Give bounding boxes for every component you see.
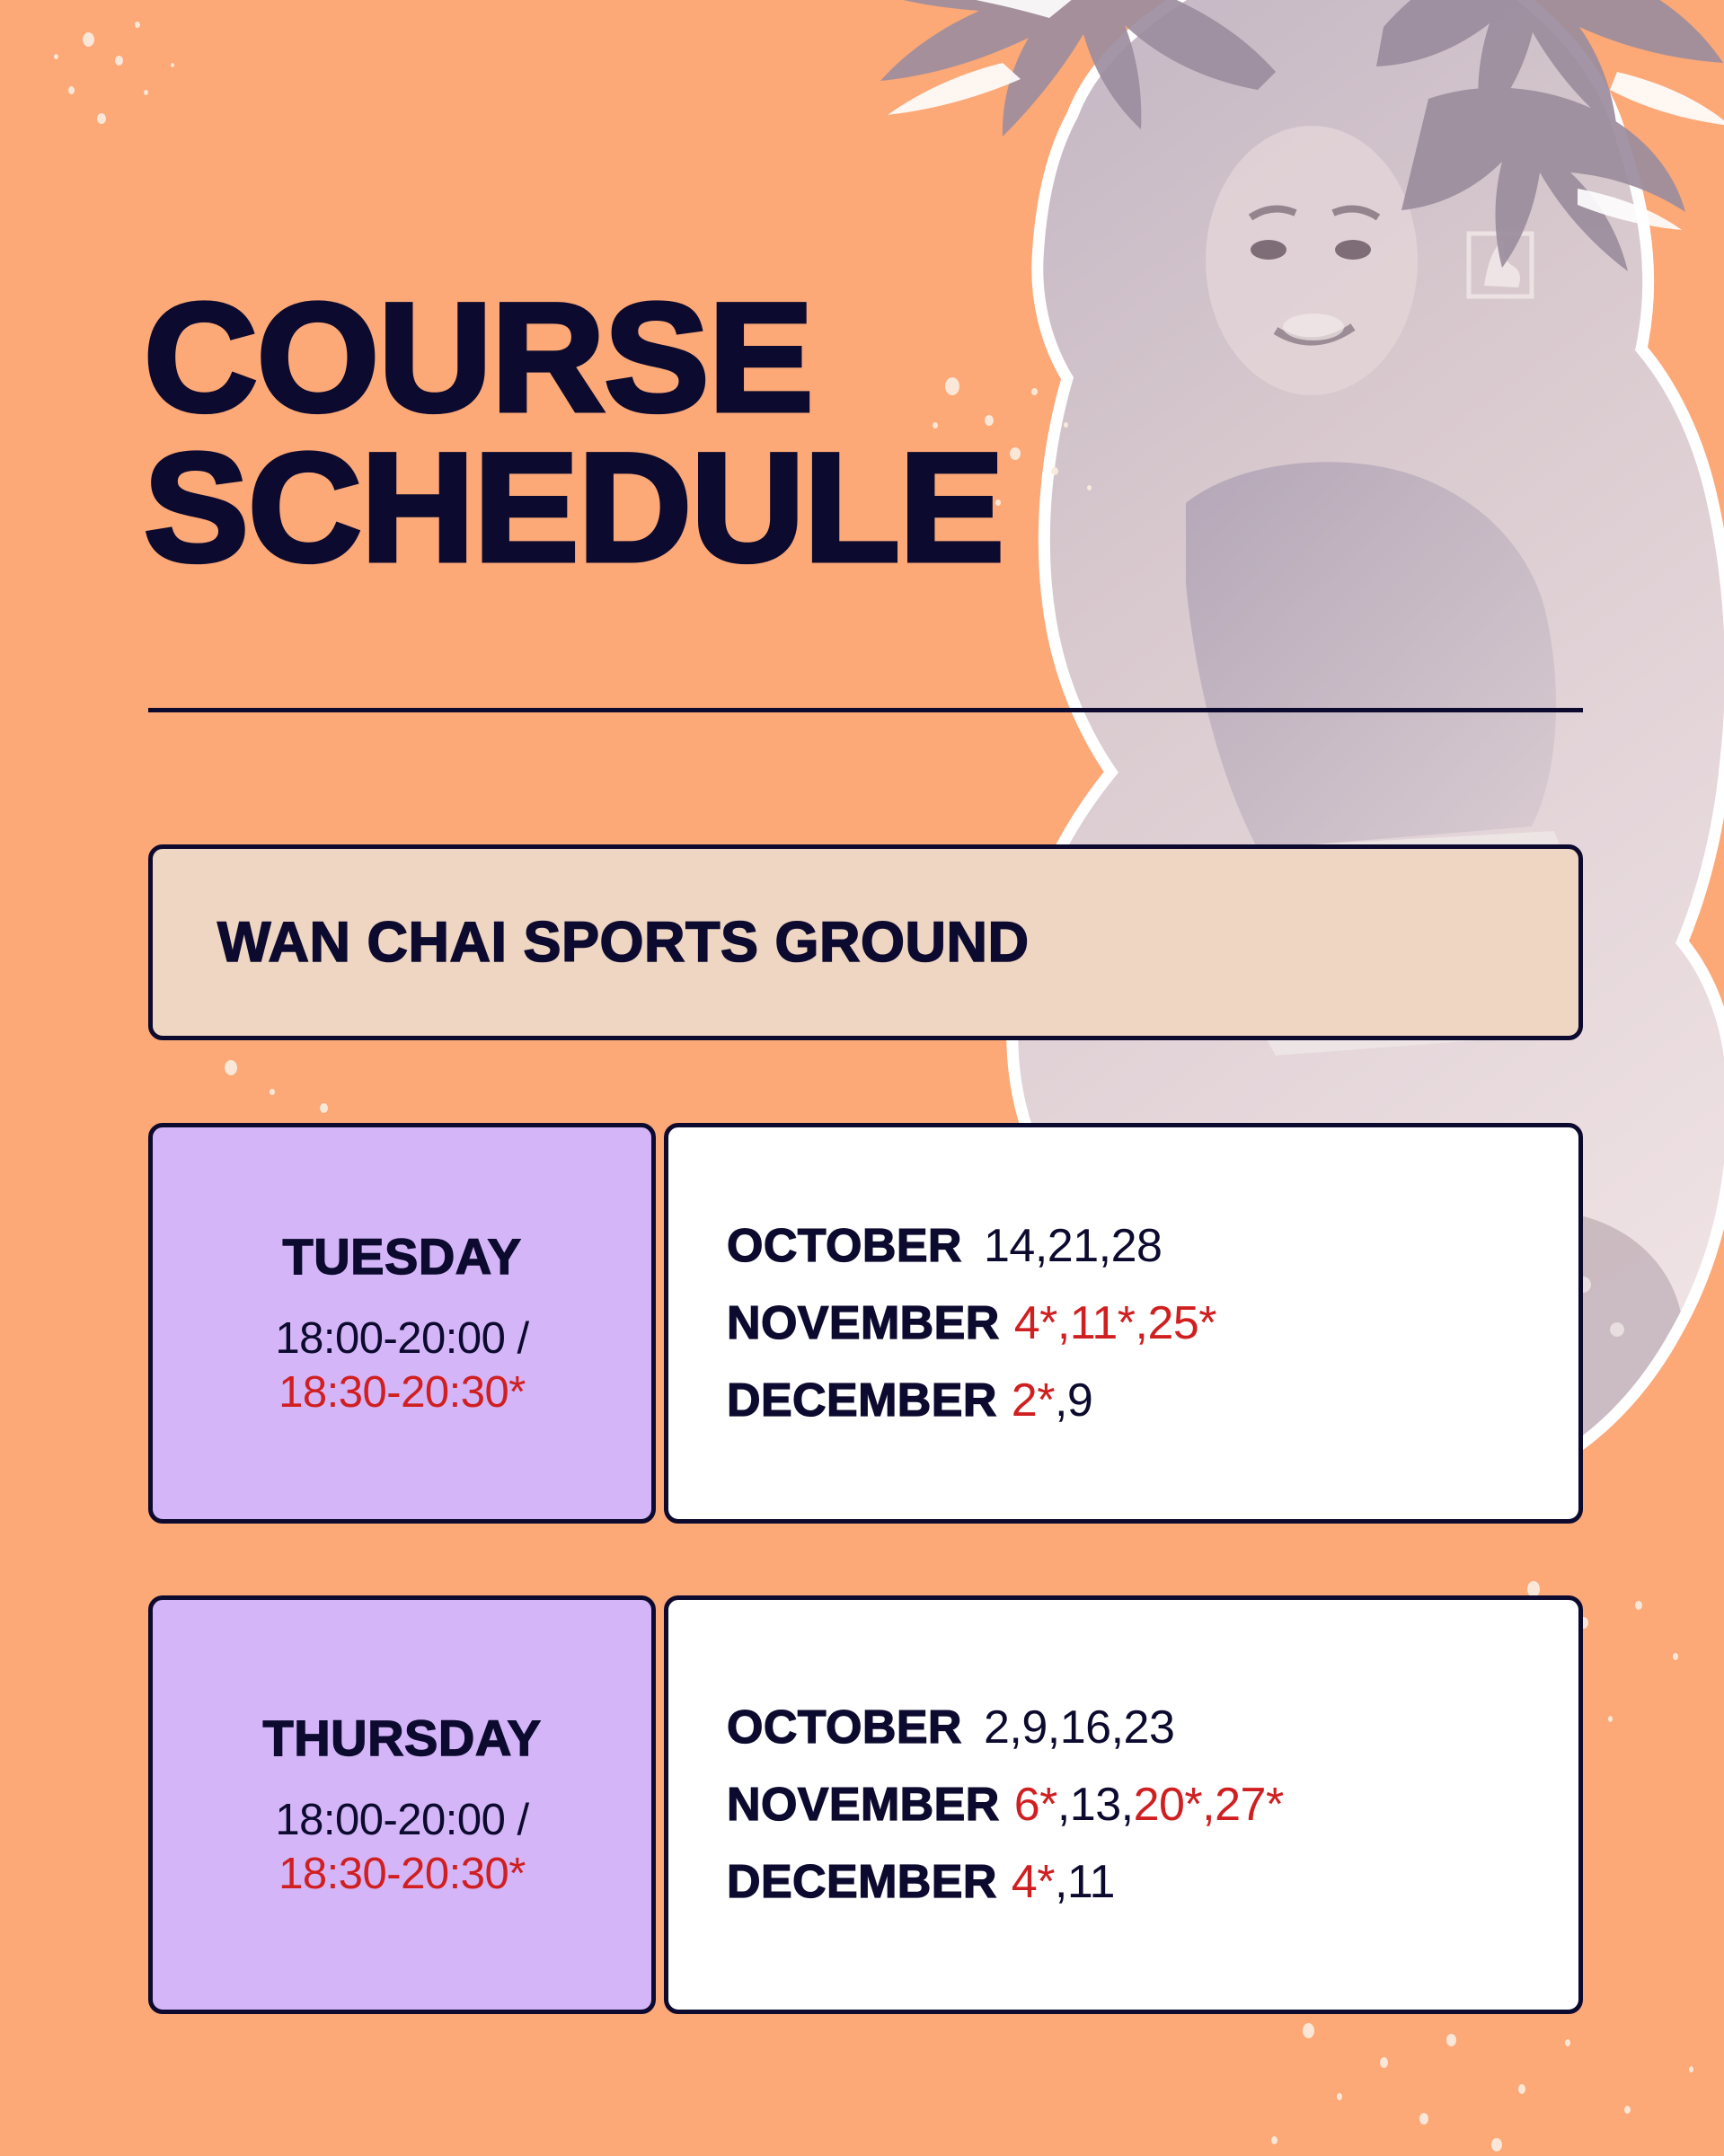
date-segment: ,9 [1055,1374,1092,1427]
month-row: OCTOBER 2,9,16,23 [727,1701,1578,1754]
time-primary: 18:00-20:00 / [275,1796,528,1844]
page-title: COURSE SCHEDULE [144,283,1243,583]
date-segment: ,11 [1055,1856,1115,1908]
day-card: TUESDAY 18:00-20:00 / 18:30-20:30* [148,1123,656,1524]
date-segment: 2,9,16,23 [984,1701,1174,1754]
month-label: DECEMBER [727,1855,997,1909]
time-primary: 18:00-20:00 / [275,1314,528,1363]
month-days: 4*,11*,25* [1014,1296,1216,1350]
date-segment: 2* [1012,1374,1055,1427]
day-name: TUESDAY [283,1227,522,1286]
month-label: NOVEMBER [727,1296,1000,1350]
month-label: OCTOBER [727,1701,969,1754]
schedule-row: THURSDAY 18:00-20:00 / 18:30-20:30* OCTO… [148,1595,1583,2014]
time-alternate: 18:30-20:30* [275,1366,528,1420]
poster-canvas: COURSE SCHEDULE WAN CHAI SPORTS GROUND T… [0,0,1724,2156]
venue-name: WAN CHAI SPORTS GROUND [217,910,1030,975]
month-row: OCTOBER 14,21,28 [727,1219,1578,1273]
month-label: NOVEMBER [727,1778,1000,1832]
month-row: DECEMBER 4*,11 [727,1855,1578,1909]
date-segment: 20*,27* [1134,1779,1284,1831]
dates-card: OCTOBER 2,9,16,23 NOVEMBER 6*,13,20*,27*… [664,1595,1583,2014]
month-row: DECEMBER 2*,9 [727,1374,1578,1427]
month-days: 2,9,16,23 [984,1701,1174,1754]
month-days: 2*,9 [1012,1374,1093,1427]
dates-card: OCTOBER 14,21,28 NOVEMBER 4*,11*,25* DEC… [664,1123,1583,1524]
month-days: 6*,13,20*,27* [1014,1778,1284,1832]
schedule-row: TUESDAY 18:00-20:00 / 18:30-20:30* OCTOB… [148,1123,1583,1524]
month-days: 14,21,28 [984,1219,1162,1273]
day-time: 18:00-20:00 / 18:30-20:30* [275,1312,528,1420]
date-segment: 14,21,28 [984,1220,1162,1272]
month-row: NOVEMBER 4*,11*,25* [727,1296,1578,1350]
date-segment: ,13, [1057,1779,1134,1831]
month-row: NOVEMBER 6*,13,20*,27* [727,1778,1578,1832]
month-label: OCTOBER [727,1219,969,1273]
day-card: THURSDAY 18:00-20:00 / 18:30-20:30* [148,1595,656,2014]
month-days: 4*,11 [1012,1855,1115,1909]
date-segment: 4*,11*,25* [1014,1297,1216,1349]
venue-card: WAN CHAI SPORTS GROUND [148,844,1583,1040]
day-name: THURSDAY [263,1709,542,1767]
month-label: DECEMBER [727,1374,997,1427]
header-divider [148,708,1583,712]
date-segment: 4* [1012,1856,1055,1908]
date-segment: 6* [1014,1779,1057,1831]
time-alternate: 18:30-20:30* [275,1848,528,1902]
day-time: 18:00-20:00 / 18:30-20:30* [275,1794,528,1902]
